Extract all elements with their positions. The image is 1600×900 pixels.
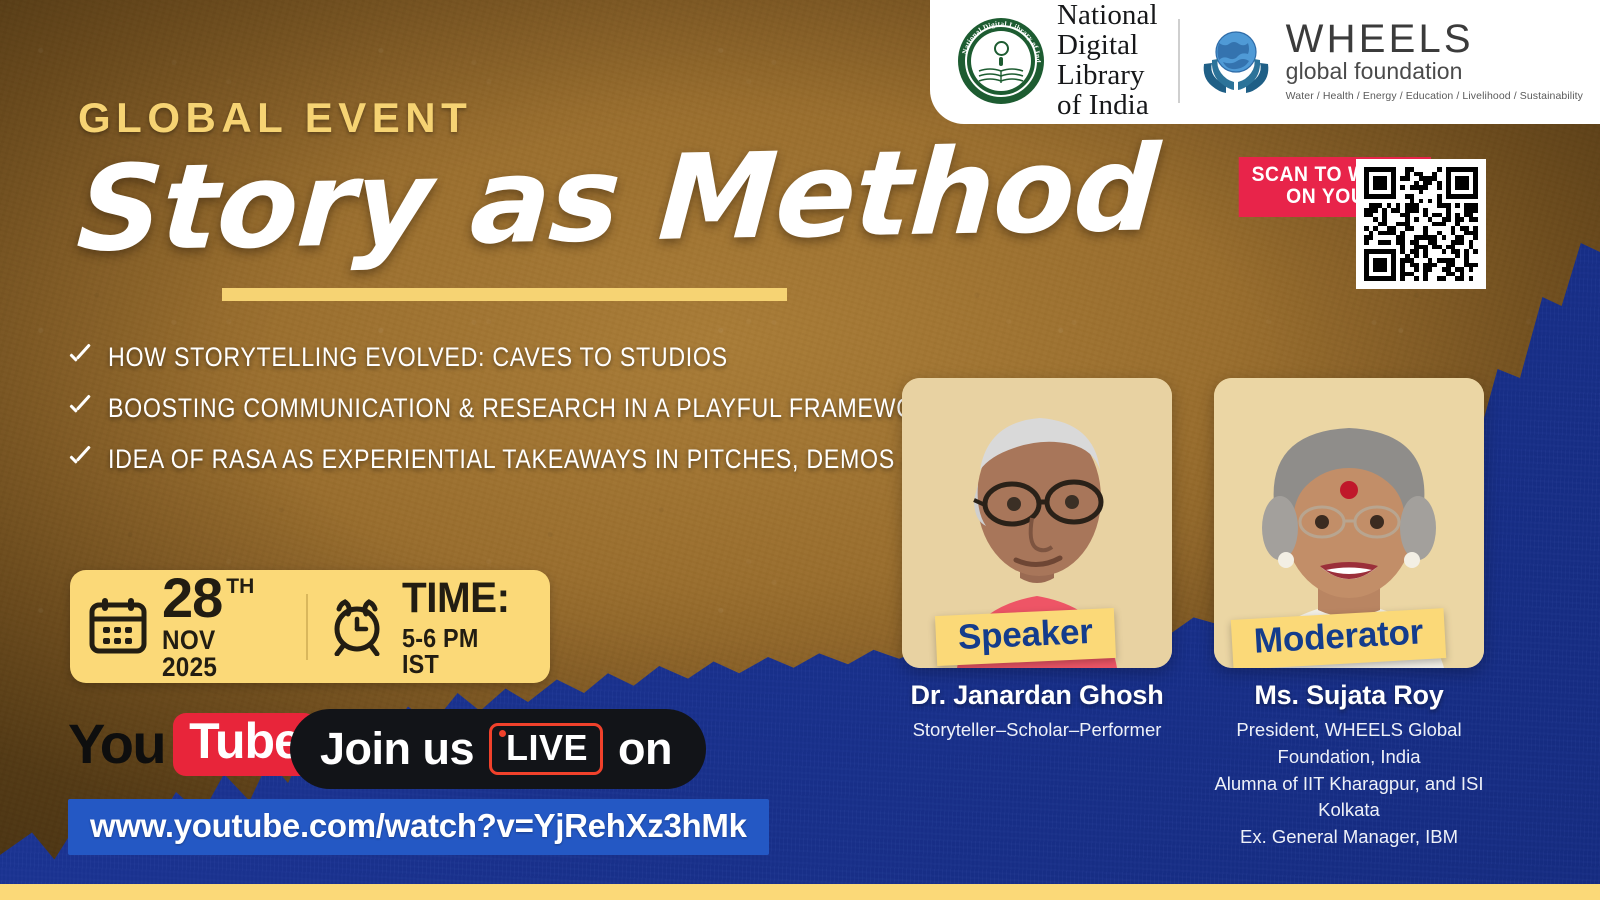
list-item-label: BOOSTING COMMUNICATION & RESEARCH IN A P…	[108, 393, 949, 424]
speaker-name: Dr. Janardan Ghosh	[902, 680, 1172, 711]
live-dot-icon	[499, 730, 506, 737]
list-item-label: IDEA OF RASA AS EXPERIENTIAL TAKEAWAYS I…	[108, 444, 1005, 475]
list-item: BOOSTING COMMUNICATION & RESEARCH IN A P…	[66, 393, 866, 424]
role-badge-speaker: Speaker	[935, 608, 1116, 666]
event-day-suffix: TH	[226, 576, 254, 597]
ndli-name: National Digital Library of India	[1057, 1, 1158, 120]
join-suffix-label: on	[618, 723, 672, 775]
date-time-pill: 28 TH NOV 2025 TIME: 5-6 PM IST	[70, 570, 550, 683]
page-title: Story as Method	[73, 119, 1162, 278]
moderator-photo: Moderator	[1214, 378, 1484, 668]
check-icon	[66, 447, 92, 473]
ndli-name-line-1: National	[1057, 1, 1158, 31]
event-month-year: NOV 2025	[162, 627, 275, 681]
check-icon	[66, 345, 92, 371]
title-underline	[222, 288, 787, 301]
ndli-rim-label: National Digital Library of India	[958, 18, 1044, 104]
alarm-clock-icon	[326, 598, 388, 656]
youtube-logo: You Tube	[68, 713, 317, 776]
moderator-credential-line: President, WHEELS Global Foundation, Ind…	[1214, 717, 1484, 771]
moderator-credential-line: Alumna of IIT Kharagpur, and ISI Kolkata	[1214, 771, 1484, 825]
event-poster: National Digital Library of India Nation…	[0, 0, 1600, 900]
speaker-credentials: Storyteller–Scholar–Performer	[902, 717, 1172, 744]
moderator-credentials: President, WHEELS Global Foundation, Ind…	[1214, 717, 1484, 851]
join-prefix-label: Join us	[320, 723, 474, 775]
check-icon	[66, 396, 92, 422]
person-card-moderator: Moderator Ms. Sujata Roy President, WHEE…	[1214, 378, 1484, 851]
youtube-url-bar[interactable]: www.youtube.com/watch?v=YjRehXz3hMk	[68, 799, 769, 855]
wheels-subtitle: global foundation	[1286, 60, 1583, 83]
speaker-credential-line: Storyteller–Scholar–Performer	[902, 717, 1172, 744]
ndli-seal-icon: National Digital Library of India	[958, 18, 1044, 104]
qr-code[interactable]	[1356, 159, 1486, 289]
live-label: LIVE	[506, 727, 588, 769]
list-item: HOW STORYTELLING EVOLVED: CAVES TO STUDI…	[66, 342, 866, 373]
calendar-icon	[88, 597, 148, 655]
live-badge: LIVE	[489, 723, 603, 775]
ndli-logo: National Digital Library of India Nation…	[958, 1, 1178, 120]
join-live-banner: Join us LIVE on	[290, 709, 706, 789]
person-card-speaker: Speaker Dr. Janardan Ghosh Storyteller–S…	[902, 378, 1172, 744]
svg-text:National Digital Library of In: National Digital Library of India	[958, 18, 1042, 63]
wheels-tagline: Water / Health / Energy / Education / Li…	[1286, 90, 1583, 102]
ndli-name-line-3: of India	[1057, 91, 1158, 121]
qr-code-matrix	[1364, 167, 1478, 281]
highlights-list: HOW STORYTELLING EVOLVED: CAVES TO STUDI…	[66, 342, 866, 495]
speaker-photo: Speaker	[902, 378, 1172, 668]
date-group: 28 TH NOV 2025	[88, 572, 288, 681]
wheels-wordmark: WHEELS	[1286, 20, 1583, 59]
moderator-credential-line: Ex. General Manager, IBM	[1214, 824, 1484, 851]
date-time-divider	[306, 594, 308, 660]
youtube-url: www.youtube.com/watch?v=YjRehXz3hMk	[90, 807, 747, 844]
time-value: 5-6 PM IST	[402, 625, 519, 677]
logo-panel: National Digital Library of India Nation…	[930, 0, 1600, 124]
ndli-name-line-2: Digital Library	[1057, 31, 1158, 91]
globe-in-hands-icon	[1198, 24, 1274, 98]
time-group: TIME: 5-6 PM IST	[326, 577, 532, 677]
youtube-you-text: You	[68, 716, 165, 772]
list-item-label: HOW STORYTELLING EVOLVED: CAVES TO STUDI…	[108, 342, 728, 373]
list-item: IDEA OF RASA AS EXPERIENTIAL TAKEAWAYS I…	[66, 444, 866, 475]
bottom-yellow-strip	[0, 884, 1600, 900]
time-label: TIME:	[402, 577, 525, 620]
moderator-name: Ms. Sujata Roy	[1214, 680, 1484, 711]
wheels-logo: WHEELS global foundation Water / Health …	[1180, 20, 1583, 102]
event-day: 28	[162, 572, 222, 624]
